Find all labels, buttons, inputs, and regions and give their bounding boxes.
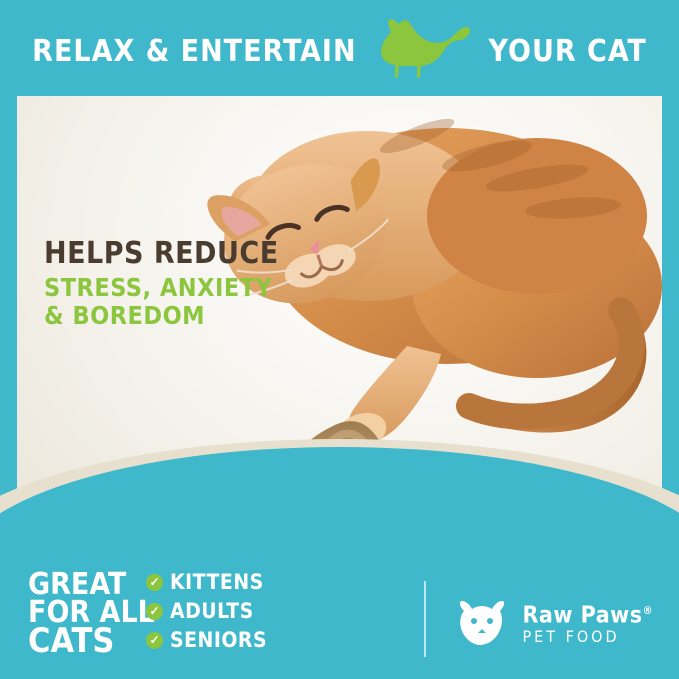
check-icon: ✓: [146, 603, 163, 620]
benefit-helps-line3: & BOREDOM: [44, 302, 279, 330]
benefit-helps-reduce: HELPS REDUCE STRESS, ANXIETY & BOREDOM: [44, 238, 279, 330]
footer-divider: [424, 581, 426, 657]
promo-graphic: RELAX & ENTERTAINYOUR CAT: [0, 0, 679, 679]
headline-left: RELAX & ENTERTAIN: [32, 34, 356, 69]
check-icon: ✓: [146, 632, 163, 649]
cat-silhouette-icon: [365, 18, 475, 80]
brand-text: Raw Paws® PET FOOD: [522, 598, 653, 647]
brand-name-text: Raw Paws: [522, 602, 642, 628]
benefit-helps-line1: HELPS REDUCE: [44, 238, 279, 270]
bullet-label: ADULTS: [170, 599, 254, 623]
great-line3: CATS: [28, 627, 155, 655]
bullet-label: KITTENS: [170, 570, 264, 594]
headline-right: YOUR CAT: [489, 34, 647, 69]
check-icon: ✓: [146, 574, 163, 591]
brand-tagline: PET FOOD: [522, 628, 653, 646]
brand-name: Raw Paws®: [522, 598, 653, 629]
headline: RELAX & ENTERTAINYOUR CAT: [0, 34, 679, 69]
brand-logo: Raw Paws® PET FOOD: [450, 591, 653, 653]
dog-cat-paw-logo-icon: [450, 591, 512, 653]
benefit-helps-line2: STRESS, ANXIETY: [44, 274, 279, 302]
age-group-list: ✓ KITTENS ✓ ADULTS ✓ SENIORS: [146, 570, 267, 657]
list-item: ✓ KITTENS: [146, 570, 267, 594]
bullet-label: SENIORS: [170, 628, 267, 652]
registered-mark: ®: [643, 604, 653, 617]
list-item: ✓ SENIORS: [146, 628, 267, 652]
list-item: ✓ ADULTS: [146, 599, 267, 623]
footer-great-for-all-cats: GREAT FOR ALL CATS: [28, 571, 155, 655]
